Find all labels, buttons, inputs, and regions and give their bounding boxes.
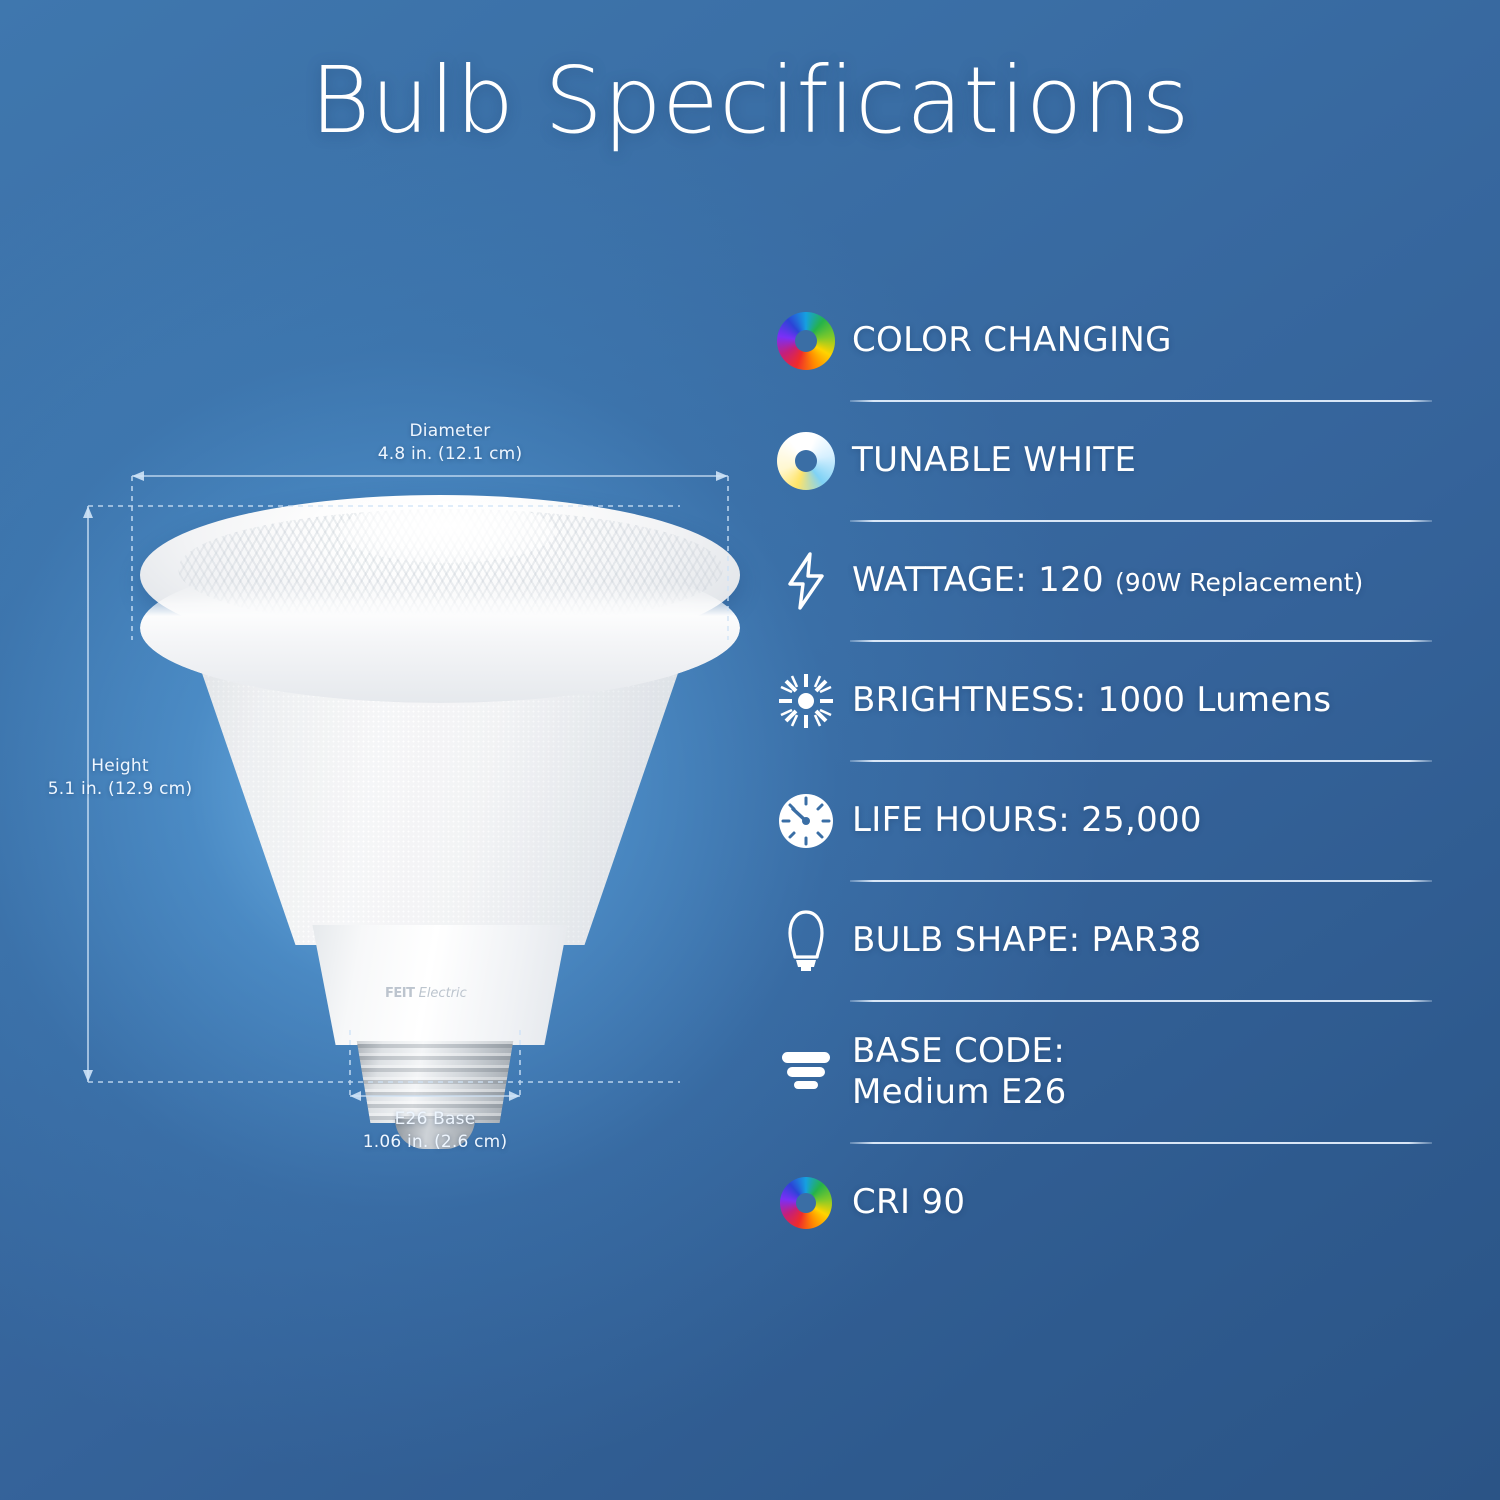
color-wheel-icon <box>760 312 852 370</box>
spec-label-wattage: WATTAGE: 120 (90W Replacement) <box>852 560 1363 601</box>
clock-icon <box>760 792 852 850</box>
height-dimension-label: Height 5.1 in. (12.9 cm) <box>30 755 210 801</box>
spec-row-color-changing: COLOR CHANGING <box>760 282 1460 400</box>
lightning-bolt-icon <box>760 552 852 610</box>
sun-icon <box>760 672 852 730</box>
page-title: Bulb Specifications <box>0 55 1500 147</box>
spec-row-wattage: WATTAGE: 120 (90W Replacement) <box>760 522 1460 640</box>
wattage-value: WATTAGE: 120 <box>852 560 1104 600</box>
spec-row-base-code: BASE CODE: Medium E26 <box>760 1002 1460 1142</box>
spec-label-life-hours: LIFE HOURS: 25,000 <box>852 800 1202 841</box>
bulb-diagram: FEIT Electric <box>40 410 760 1190</box>
spec-row-bulb-shape: BULB SHAPE: PAR38 <box>760 882 1460 1000</box>
height-label-value: 5.1 in. (12.9 cm) <box>30 778 210 801</box>
diameter-label-value: 4.8 in. (12.1 cm) <box>340 443 560 466</box>
spec-label-bulb-shape: BULB SHAPE: PAR38 <box>852 920 1202 961</box>
screw-base-icon <box>760 1046 852 1098</box>
diameter-dimension-label: Diameter 4.8 in. (12.1 cm) <box>340 420 560 466</box>
specifications-list: COLOR CHANGING TUNABLE WHITE WATTAGE: 12… <box>760 282 1460 1262</box>
spec-label-base-code: BASE CODE: Medium E26 <box>852 1031 1067 1114</box>
infographic-canvas: Bulb Specifications FEIT Electric <box>0 0 1500 1500</box>
spec-label-color-changing: COLOR CHANGING <box>852 320 1172 361</box>
spec-label-tunable-white: TUNABLE WHITE <box>852 440 1136 481</box>
base-code-value: Medium E26 <box>852 1072 1067 1113</box>
base-code-title: BASE CODE: <box>852 1031 1065 1071</box>
base-label-title: E26 Base <box>395 1109 476 1129</box>
wattage-replacement: (90W Replacement) <box>1115 568 1363 597</box>
bulb-outline-icon <box>760 909 852 973</box>
diameter-label-title: Diameter <box>410 421 491 441</box>
spec-row-brightness: BRIGHTNESS: 1000 Lumens <box>760 642 1460 760</box>
spec-row-tunable-white: TUNABLE WHITE <box>760 402 1460 520</box>
color-wheel-icon <box>760 1177 852 1229</box>
height-label-title: Height <box>91 756 148 776</box>
tunable-white-icon <box>760 432 852 490</box>
base-label-value: 1.06 in. (2.6 cm) <box>325 1131 545 1154</box>
spec-label-brightness: BRIGHTNESS: 1000 Lumens <box>852 680 1331 721</box>
spec-label-cri: CRI 90 <box>852 1182 965 1223</box>
spec-row-cri: CRI 90 <box>760 1144 1460 1262</box>
base-dimension-label: E26 Base 1.06 in. (2.6 cm) <box>325 1108 545 1154</box>
spec-row-life-hours: LIFE HOURS: 25,000 <box>760 762 1460 880</box>
